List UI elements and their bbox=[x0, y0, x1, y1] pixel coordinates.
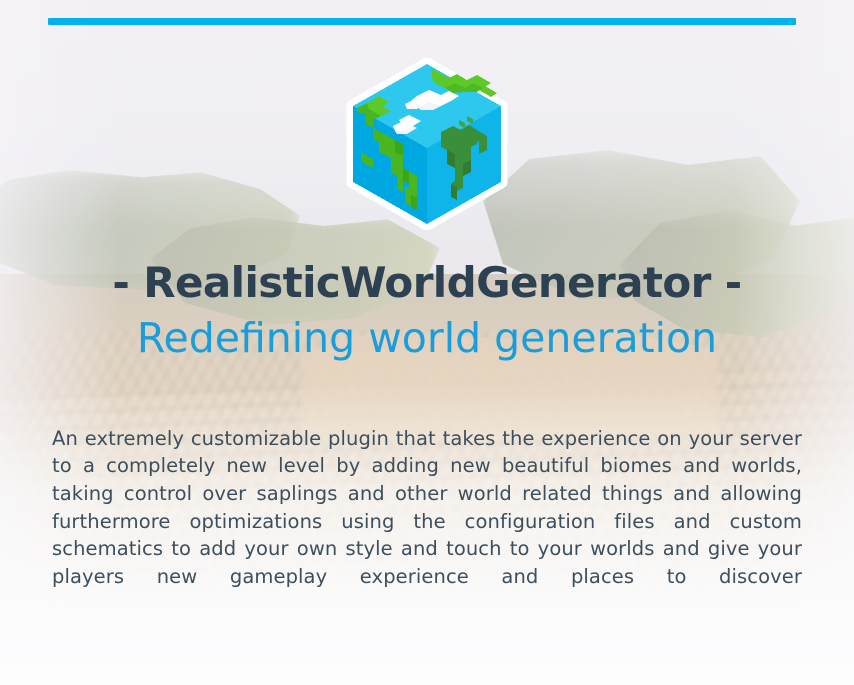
globe-cube-icon bbox=[345, 58, 509, 230]
page-title: - RealisticWorldGenerator - bbox=[0, 262, 854, 304]
decorative-divider bbox=[48, 18, 796, 25]
logo-container bbox=[0, 58, 854, 230]
page-subtitle: Redefining world generation bbox=[0, 318, 854, 359]
banner-content: - RealisticWorldGenerator - Redefining w… bbox=[0, 0, 854, 685]
description-text: An extremely customizable plugin that ta… bbox=[52, 425, 802, 591]
plugin-banner: - RealisticWorldGenerator - Redefining w… bbox=[0, 0, 854, 685]
heading-block: - RealisticWorldGenerator - Redefining w… bbox=[0, 262, 854, 359]
